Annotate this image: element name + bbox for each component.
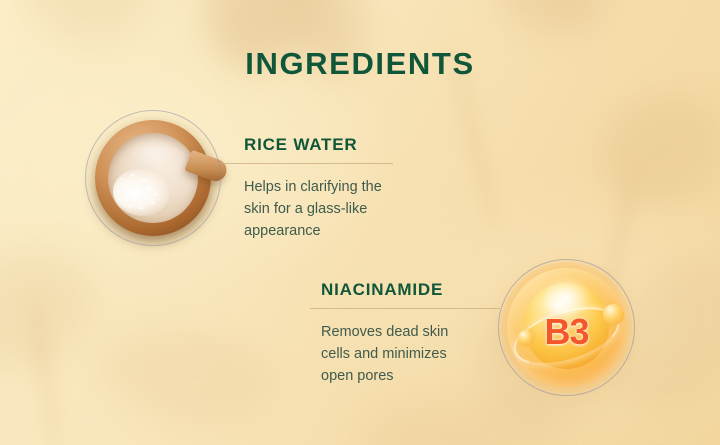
description-line: skin for a glass-like	[244, 198, 444, 220]
divider-rice-water	[217, 163, 393, 165]
ingredients-poster: INGREDIENTS RICE WATER Helps in clarifyi…	[0, 0, 720, 445]
ingredient-block-rice-water: RICE WATER Helps in clarifying the skin …	[244, 136, 444, 242]
bowl-outline-ring-icon	[85, 110, 221, 246]
ingredient-name-rice-water: RICE WATER	[244, 136, 444, 155]
description-line: Helps in clarifying the	[244, 176, 444, 198]
serum-outline-ring-icon	[498, 259, 635, 396]
description-line: Removes dead skin	[321, 321, 521, 343]
ingredient-description-niacinamide: Removes dead skin cells and minimizes op…	[321, 321, 521, 387]
niacinamide-b3-serum-drop: B3	[498, 259, 635, 396]
page-title: INGREDIENTS	[0, 46, 720, 82]
description-line: open pores	[321, 365, 521, 387]
ingredient-name-niacinamide: NIACINAMIDE	[321, 281, 521, 300]
divider-niacinamide	[310, 308, 500, 310]
ingredient-block-niacinamide: NIACINAMIDE Removes dead skin cells and …	[321, 281, 521, 387]
rice-water-bowl-photo	[85, 110, 221, 246]
description-line: cells and minimizes	[321, 343, 521, 365]
ingredient-description-rice-water: Helps in clarifying the skin for a glass…	[244, 176, 444, 242]
description-line: appearance	[244, 220, 444, 242]
